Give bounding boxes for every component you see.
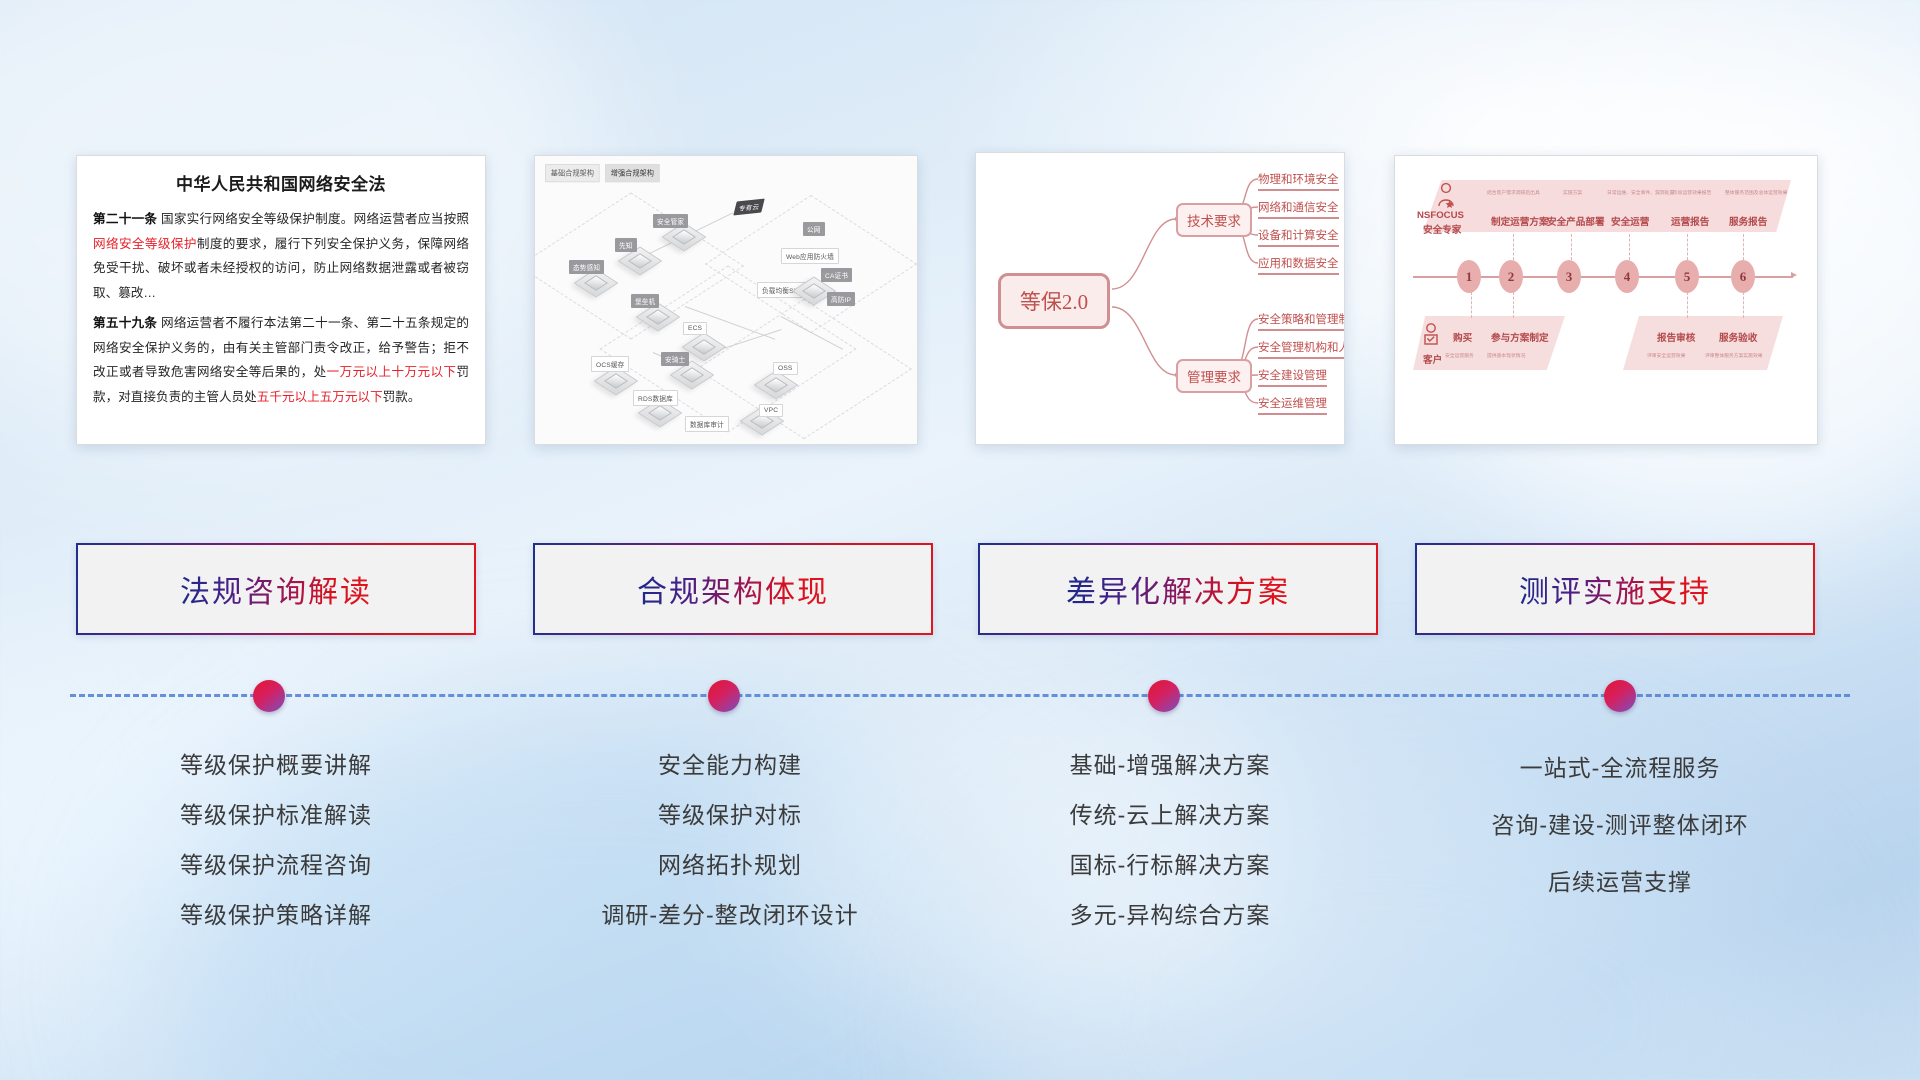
- list-item: 一站式-全流程服务: [1390, 740, 1850, 797]
- law-article-59-text-c: 罚款。: [383, 390, 421, 404]
- node-label-waf: Web应用防火墙: [781, 248, 839, 264]
- timeline-node-3[interactable]: [1148, 680, 1180, 712]
- top-title-3: 安全运营: [1611, 214, 1649, 228]
- mindmap-leaf-build-mgmt: 安全建设管理: [1258, 367, 1327, 387]
- headline-box-differentiated-solution[interactable]: 差异化解决方案: [978, 543, 1378, 635]
- node-label-situational-awareness: 态势感知: [569, 260, 604, 274]
- top-sub-5: 整体服务范围及总体运营效果: [1725, 189, 1787, 196]
- tick-b3: [1687, 292, 1688, 318]
- vendor-role: 安全专家: [1423, 222, 1461, 236]
- node-label-xianzhi: 先知: [615, 238, 637, 252]
- timeline-node-4[interactable]: [1604, 680, 1636, 712]
- headline-box-compliance-architecture[interactable]: 合规架构体现: [533, 543, 933, 635]
- step-dot-1: 1: [1457, 260, 1481, 293]
- bottom-sub-2: 提供基本现状情况: [1487, 352, 1525, 359]
- mindmap-core-node: 等保2.0: [998, 273, 1110, 329]
- tick-5: [1687, 234, 1688, 260]
- law-article-59-highlight-1: 一万元以上十万元以下: [327, 365, 457, 379]
- node-label-bastion-host: 堡垒机: [631, 294, 659, 308]
- list-item: 传统-云上解决方案: [940, 790, 1400, 840]
- tick-3: [1571, 234, 1572, 260]
- list-item: 等级保护标准解读: [46, 790, 506, 840]
- list-item: 等级保护概要讲解: [46, 740, 506, 790]
- bottom-title-3: 报告审核: [1657, 330, 1695, 344]
- mindmap-canvas: 等保2.0 技术要求 管理要求 物理和环境安全 网络和通信安全 设备和计算安全 …: [976, 153, 1344, 444]
- bottom-sub-3: 评审安全运营效果: [1647, 352, 1685, 359]
- node-label-anqishi: 安骑士: [661, 352, 689, 366]
- architecture-canvas: 基础合规架构 增强合规架构 态势感知 先知: [535, 156, 917, 444]
- law-excerpt-card: 中华人民共和国网络安全法 第二十一条 国家实行网络安全等级保护制度。网络运营者应…: [76, 155, 486, 445]
- architecture-isometric-scene: 态势感知 先知 安全管家 专有云 堡垒机 ECS 安骑士 Web应用防火墙 负载…: [535, 156, 917, 444]
- reference-card-row: 中华人民共和国网络安全法 第二十一条 国家实行网络安全等级保护制度。网络运营者应…: [0, 0, 1920, 460]
- list-item: 调研-差分-整改闭环设计: [500, 890, 960, 940]
- mindmap-leaf-device-compute: 设备和计算安全: [1258, 227, 1339, 247]
- node-label-ocs-cache: OCS缓存: [591, 356, 629, 372]
- law-article-21-label: 第二十一条: [93, 212, 157, 226]
- tick-4: [1629, 234, 1630, 260]
- law-article-59-highlight-2: 五千元以上五万元以下: [257, 390, 383, 404]
- top-title-4: 运营报告: [1671, 214, 1709, 228]
- node-label-public-network: 公网: [803, 222, 825, 236]
- list-item: 等级保护对标: [500, 790, 960, 840]
- expert-avatar-icon: [1435, 182, 1457, 208]
- top-title-1: 制定运营方案: [1491, 214, 1549, 228]
- top-sub-1: 结合客户需求调研后出具: [1487, 189, 1540, 196]
- list-item: 网络拓扑规划: [500, 840, 960, 890]
- timeline-arrow-icon: [1791, 272, 1797, 278]
- law-title: 中华人民共和国网络安全法: [93, 170, 469, 195]
- list-item: 等级保护策略详解: [46, 890, 506, 940]
- headline-label-3: 差异化解决方案: [1066, 567, 1290, 611]
- step-dot-3: 3: [1557, 260, 1581, 293]
- step-dot-2: 2: [1499, 260, 1523, 293]
- tick-b4: [1743, 292, 1744, 318]
- headline-label-2: 合规架构体现: [637, 567, 829, 611]
- detail-column-1: 等级保护概要讲解 等级保护标准解读 等级保护流程咨询 等级保护策略详解: [46, 740, 506, 940]
- node-label-rds: RDS数据库: [633, 390, 678, 406]
- detail-column-row: 等级保护概要讲解 等级保护标准解读 等级保护流程咨询 等级保护策略详解 安全能力…: [0, 740, 1920, 1010]
- mindmap-leaf-physical-env: 物理和环境安全: [1258, 171, 1339, 191]
- service-flow-card: NSFOCUS 安全专家 结合客户需求调研后出具 制定运营方案 实施方案 安全产…: [1394, 155, 1818, 445]
- step-dot-5: 5: [1675, 260, 1699, 293]
- top-sub-4: 阶段运营效果报告: [1673, 189, 1711, 196]
- node-label-oss: OSS: [773, 362, 798, 375]
- bottom-sub-1: 安全运营服务: [1445, 352, 1474, 359]
- vendor-name: NSFOCUS: [1417, 210, 1464, 221]
- mindmap-leaf-org-personnel: 安全管理机构和人员: [1258, 339, 1345, 359]
- node-label-anti-ddos-ip: 高防IP: [827, 292, 855, 306]
- mindmap-leaf-app-data: 应用和数据安全: [1258, 255, 1339, 275]
- detail-column-4: 一站式-全流程服务 咨询-建设-测评整体闭环 后续运营支撑: [1390, 740, 1850, 911]
- step-dot-6: 6: [1731, 260, 1755, 293]
- node-label-security-butler: 安全管家: [653, 214, 688, 228]
- bottom-title-4: 服务验收: [1719, 330, 1757, 344]
- node-label-db-audit: 数据库审计: [685, 416, 729, 432]
- law-article-21: 第二十一条 国家实行网络安全等级保护制度。网络运营者应当按照网络安全等级保护制度…: [93, 207, 469, 305]
- timeline-node-2[interactable]: [708, 680, 740, 712]
- headline-label-1: 法规咨询解读: [180, 567, 372, 611]
- law-article-21-text-a: 国家实行网络安全等级保护制度。网络运营者应当按照: [157, 212, 469, 226]
- bottom-title-1: 购买: [1453, 330, 1472, 344]
- bottom-sub-4: 评审整体服务方案实施效果: [1705, 352, 1763, 359]
- headline-box-assessment-support[interactable]: 测评实施支持: [1415, 543, 1815, 635]
- customer-role: 客户: [1423, 352, 1442, 366]
- top-title-5: 服务报告: [1729, 214, 1767, 228]
- law-article-59: 第五十九条 网络运营者不履行本法第二十一条、第二十五条规定的网络安全保护义务的，…: [93, 311, 469, 409]
- mindmap-card: 等保2.0 技术要求 管理要求 物理和环境安全 网络和通信安全 设备和计算安全 …: [975, 152, 1345, 445]
- tick-2: [1513, 234, 1514, 260]
- top-sub-3: 日常运维、安全事件、漏洞处置: [1607, 189, 1674, 196]
- step-dot-4: 4: [1615, 260, 1639, 293]
- list-item: 安全能力构建: [500, 740, 960, 790]
- top-sub-2: 实施方案: [1563, 189, 1582, 196]
- tick-6: [1743, 234, 1744, 260]
- timeline-node-1[interactable]: [253, 680, 285, 712]
- list-item: 等级保护流程咨询: [46, 840, 506, 890]
- top-title-2: 安全产品部署: [1547, 214, 1605, 228]
- node-label-ecs: ECS: [683, 322, 707, 335]
- mindmap-branch-technical: 技术要求: [1176, 203, 1252, 237]
- node-label-ca-cert: CA证书: [821, 268, 852, 282]
- list-item: 多元-异构综合方案: [940, 890, 1400, 940]
- list-item: 基础-增强解决方案: [940, 740, 1400, 790]
- headline-row: 法规咨询解读 合规架构体现 差异化解决方案 测评实施支持: [0, 543, 1920, 653]
- mindmap-leaf-network-comm: 网络和通信安全: [1258, 199, 1339, 219]
- law-body: 中华人民共和国网络安全法 第二十一条 国家实行网络安全等级保护制度。网络运营者应…: [77, 156, 485, 419]
- node-label-vpc: VPC: [759, 404, 783, 417]
- detail-column-3: 基础-增强解决方案 传统-云上解决方案 国标-行标解决方案 多元-异构综合方案: [940, 740, 1400, 940]
- list-item: 国标-行标解决方案: [940, 840, 1400, 890]
- node-label-private-cloud: 专有云: [733, 199, 765, 216]
- detail-column-2: 安全能力构建 等级保护对标 网络拓扑规划 调研-差分-整改闭环设计: [500, 740, 960, 940]
- timeline-dashed-rail: [70, 694, 1850, 698]
- mindmap-leaf-ops-mgmt: 安全运维管理: [1258, 395, 1327, 415]
- service-flow-canvas: NSFOCUS 安全专家 结合客户需求调研后出具 制定运营方案 实施方案 安全产…: [1395, 156, 1817, 444]
- list-item: 后续运营支撑: [1390, 854, 1850, 911]
- headline-box-regulation-consulting[interactable]: 法规咨询解读: [76, 543, 476, 635]
- customer-band-right: [1623, 316, 1783, 370]
- architecture-diagram-card: 基础合规架构 增强合规架构 态势感知 先知: [534, 155, 918, 445]
- tick-b2: [1513, 292, 1514, 318]
- law-article-59-label: 第五十九条: [93, 316, 157, 330]
- list-item: 咨询-建设-测评整体闭环: [1390, 797, 1850, 854]
- law-article-21-highlight: 网络安全等级保护: [93, 237, 197, 251]
- mindmap-leaf-policy-system: 安全策略和管理制度: [1258, 311, 1345, 331]
- mindmap-branch-management: 管理要求: [1176, 359, 1252, 393]
- customer-avatar-icon: [1421, 322, 1441, 348]
- headline-label-4: 测评实施支持: [1519, 567, 1711, 611]
- tick-b1: [1471, 292, 1472, 318]
- bottom-title-2: 参与方案制定: [1491, 330, 1549, 344]
